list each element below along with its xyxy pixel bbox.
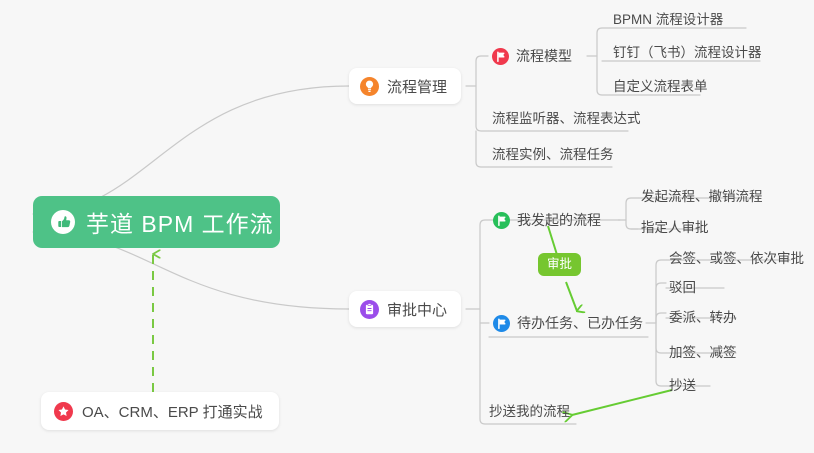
thumbs-up-icon [50,209,76,235]
mindmap-canvas: 芋道 BPM 工作流 流程管理 审批中心 [0,0,814,453]
leaf-process-instance[interactable]: 流程实例、流程任务 [492,143,614,167]
edge-pm-to-model [476,56,488,86]
leaf-add-remove-sign[interactable]: 加签、减签 [669,341,737,365]
annotation-arrow-cc [572,390,672,415]
branch-label-process-management: 流程管理 [387,76,447,97]
note-card-label: OA、CRM、ERP 打通实战 [82,401,263,422]
edge-todo-to-reject [656,283,666,323]
edge-model-to-custom-form [597,56,609,95]
leaf-cc[interactable]: 抄送 [669,374,696,398]
node-todo-done-tasks[interactable]: 待办任务、已办任务 [493,310,643,336]
root-label: 芋道 BPM 工作流 [86,205,274,239]
leaf-cc-my-process[interactable]: 抄送我的流程 [489,400,570,424]
leaf-reject[interactable]: 驳回 [669,276,696,300]
edge-todo-to-delegate [656,313,666,323]
leaf-countersign[interactable]: 会签、或签、依次审批 [669,247,804,271]
leaf-delegate-transfer[interactable]: 委派、转办 [669,306,737,330]
note-card-integration[interactable]: OA、CRM、ERP 打通实战 [41,392,279,430]
label-todo-done-tasks: 待办任务、已办任务 [517,313,643,333]
label-my-started-process: 我发起的流程 [517,210,601,230]
edge-ac-to-started [480,220,489,309]
branch-node-process-management[interactable]: 流程管理 [349,68,461,104]
edge-root-to-process-management [33,86,349,214]
branch-node-approval-center[interactable]: 审批中心 [349,291,461,327]
leaf-assignee-approval[interactable]: 指定人审批 [641,216,709,240]
flag-icon [492,48,509,65]
star-icon [54,402,73,421]
flag-icon [493,315,510,332]
edge-todo-to-cc [656,323,666,386]
label-process-model: 流程模型 [516,46,572,66]
edge-model-to-bpmn [597,28,609,56]
leaf-bpmn-designer[interactable]: BPMN 流程设计器 [613,8,723,32]
edge-started-to-launch [626,198,638,220]
leaf-process-listener[interactable]: 流程监听器、流程表达式 [492,107,641,131]
leaf-custom-form[interactable]: 自定义流程表单 [613,75,708,99]
clipboard-icon [360,300,379,319]
leaf-dingtalk-designer[interactable]: 钉钉（飞书）流程设计器 [613,41,762,65]
edge-todo-to-addsign [656,323,666,353]
node-my-started-process[interactable]: 我发起的流程 [493,207,601,233]
node-process-model[interactable]: 流程模型 [492,43,572,69]
edge-started-to-assignee [626,220,638,229]
flag-icon [493,212,510,229]
edge-pm-to-listener [476,86,488,131]
annotation-arrow-approval-bottom [566,282,577,311]
edge-pm-to-instance [476,131,488,167]
leaf-launch-cancel-process[interactable]: 发起流程、撤销流程 [641,185,763,209]
lightbulb-icon [360,77,379,96]
edge-ac-to-cc [480,309,489,424]
root-node[interactable]: 芋道 BPM 工作流 [33,196,280,248]
approval-badge: 审批 [538,253,581,276]
branch-label-approval-center: 审批中心 [387,299,447,320]
